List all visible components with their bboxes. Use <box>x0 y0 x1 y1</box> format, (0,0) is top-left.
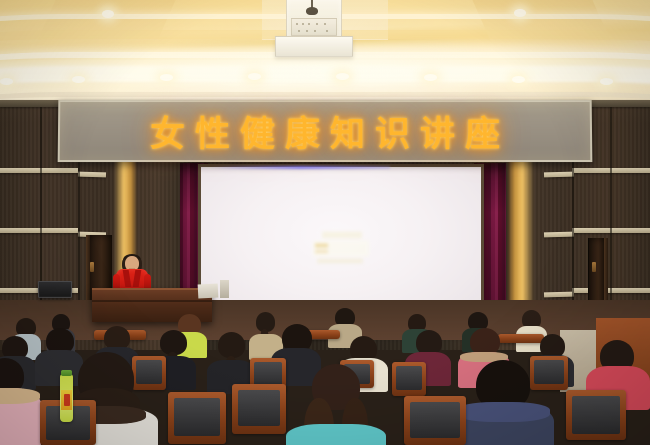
projector-body <box>291 18 337 36</box>
screen-edge-glow <box>210 166 390 169</box>
podium-laptop[interactable] <box>38 281 72 298</box>
ceiling-projector <box>262 0 362 56</box>
chair-seat-pad <box>572 396 620 434</box>
slide-body-block <box>313 240 369 256</box>
ceiling-downlight <box>248 73 261 80</box>
chair-seat-pad <box>238 390 280 426</box>
audience <box>0 300 650 445</box>
wall-accent-strip <box>544 292 574 298</box>
podium-item <box>220 280 229 298</box>
water-bottle-cap <box>61 370 72 376</box>
ceiling-downlight <box>160 74 173 81</box>
slide-footer-block <box>317 258 363 263</box>
chair-seat-pad <box>396 366 422 390</box>
chair-seat-pad <box>136 360 162 384</box>
ceiling-downlight <box>72 76 85 83</box>
slide-title-block <box>322 231 362 238</box>
ceiling-downlight <box>512 76 525 83</box>
ceiling-downlight <box>336 73 349 80</box>
ceiling <box>0 0 650 104</box>
chair-seat-pad <box>174 398 220 436</box>
chair-seat-pad <box>254 362 282 386</box>
auditorium-chair[interactable] <box>498 334 544 343</box>
water-bottle-graphic <box>64 394 70 406</box>
banner-title-text: 女性健康知识讲座 <box>140 106 510 157</box>
chair-seat-pad <box>534 360 564 384</box>
chair-seat-pad <box>410 402 460 438</box>
ceiling-downlight <box>600 78 613 85</box>
projector-ceiling-plate <box>275 36 353 57</box>
door-handle-right[interactable] <box>592 262 596 272</box>
wall-accent-strip <box>0 168 78 173</box>
wall-accent-strip <box>544 172 574 178</box>
auditorium-photo: 女性健康知识讲座 <box>0 0 650 445</box>
podium-papers <box>198 283 219 298</box>
slide-content <box>313 229 369 265</box>
wall-accent-strip <box>78 172 106 178</box>
wall-accent-strip <box>0 228 78 233</box>
door-handle-left[interactable] <box>90 262 94 272</box>
ceiling-spotlight <box>102 10 114 18</box>
ceiling-spotlight <box>514 9 526 17</box>
ceiling-downlight <box>0 78 13 85</box>
wall-accent-strip <box>544 232 574 238</box>
projector-lens <box>306 7 318 15</box>
ceiling-downlight <box>424 74 437 81</box>
led-banner: 女性健康知识讲座 <box>58 100 593 162</box>
